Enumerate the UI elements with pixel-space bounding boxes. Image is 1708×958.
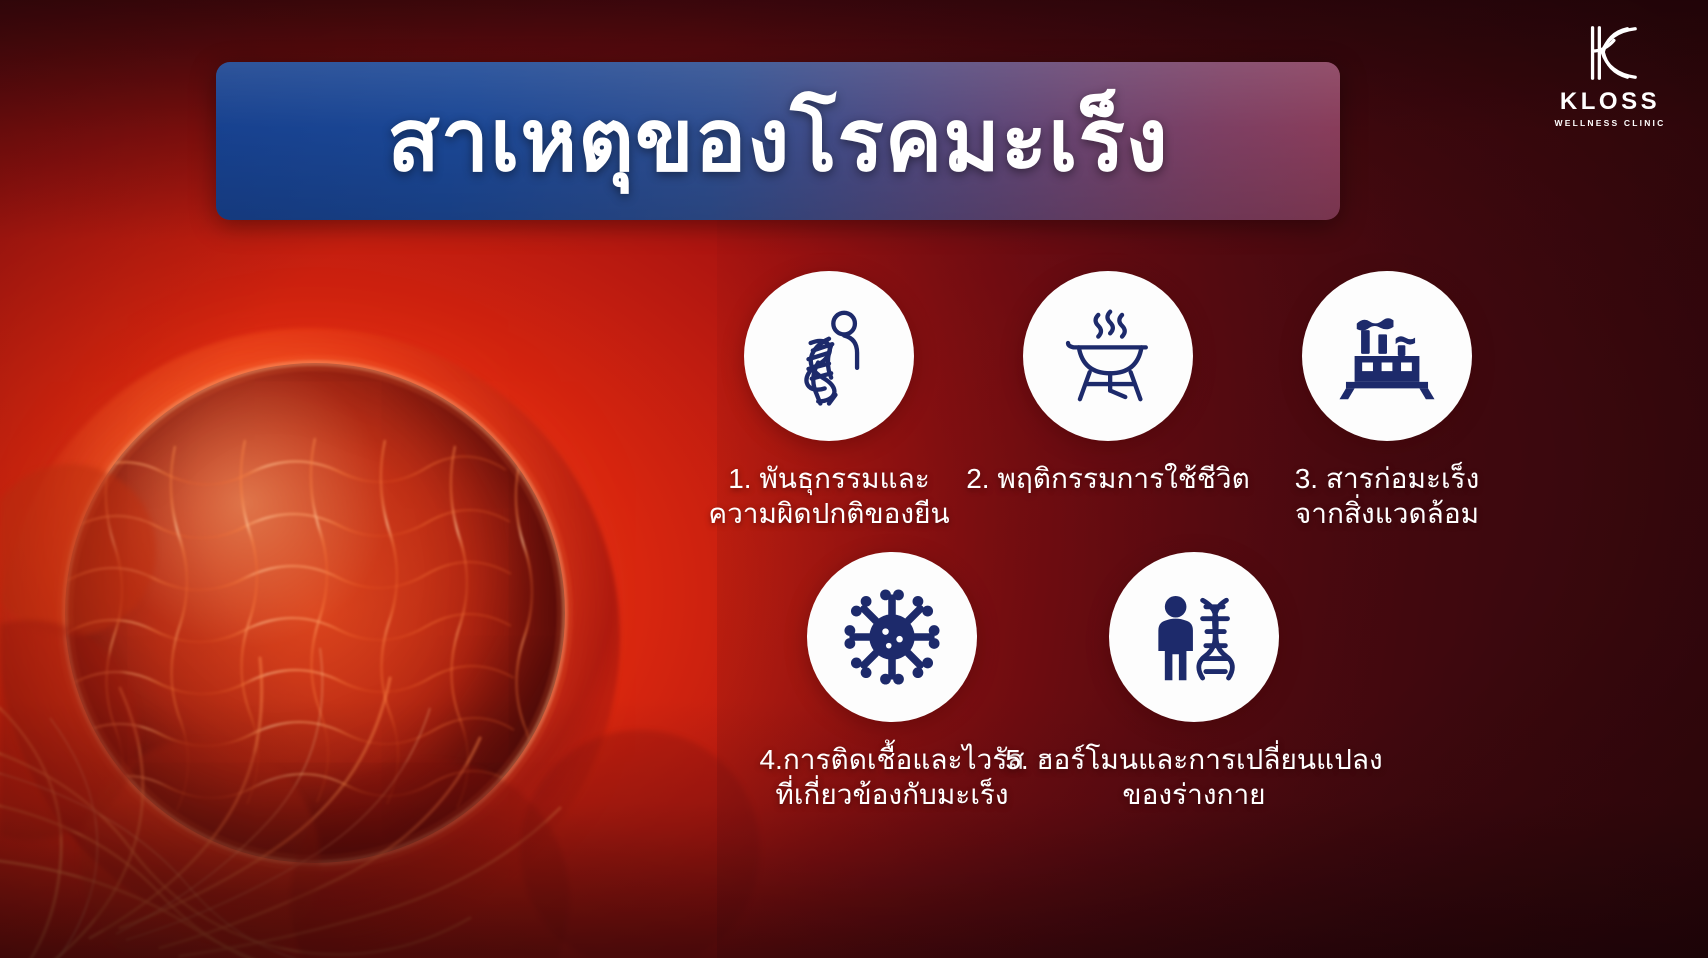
caption-2: 2. พฤติกรรมการใช้ชีวิต xyxy=(966,461,1250,496)
icon-disc-3 xyxy=(1302,271,1472,441)
caption-3: 3. สารก่อมะเร็ง จากสิ่งแวดล้อม xyxy=(1295,461,1480,532)
dna-person-icon xyxy=(775,302,883,410)
page-title: สาเหตุของโรคมะเร็ง xyxy=(387,98,1169,184)
logo-tagline: WELLNESS CLINIC xyxy=(1555,119,1666,128)
brand-logo: KLOSS WELLNESS CLINIC xyxy=(1546,22,1674,128)
caption-1-line-1: 1. พันธุกรรมและ xyxy=(708,461,949,496)
caption-4-line-1: 4.การติดเชื้อและไวรัส xyxy=(759,742,1024,777)
icon-disc-5 xyxy=(1109,552,1279,722)
icon-disc-2 xyxy=(1023,271,1193,441)
caption-1: 1. พันธุกรรมและ ความผิดปกติของยีน xyxy=(708,461,949,532)
infographic-poster: สาเหตุของโรคมะเร็ง KLOSS WELLNESS CLINIC xyxy=(0,0,1708,958)
logo-wordmark: KLOSS xyxy=(1560,90,1660,114)
factory-pollution-icon xyxy=(1333,302,1441,410)
caption-4-line-2: ที่เกี่ยวข้องกับมะเร็ง xyxy=(759,777,1024,812)
kloss-k-monogram-icon xyxy=(1579,22,1641,84)
cause-item-3: 3. สารก่อมะเร็ง จากสิ่งแวดล้อม xyxy=(1217,271,1557,532)
caption-5: 5. ฮอร์โมนและการเปลี่ยนแปลง ของร่างกาย xyxy=(1005,742,1382,813)
caption-4: 4.การติดเชื้อและไวรัส ที่เกี่ยวข้องกับมะ… xyxy=(759,742,1024,813)
caption-3-line-2: จากสิ่งแวดล้อม xyxy=(1295,496,1480,531)
caption-5-line-2: ของร่างกาย xyxy=(1005,777,1382,812)
cause-item-5: 5. ฮอร์โมนและการเปลี่ยนแปลง ของร่างกาย xyxy=(1024,552,1364,813)
caption-3-line-1: 3. สารก่อมะเร็ง xyxy=(1295,461,1480,496)
caption-5-line-1: 5. ฮอร์โมนและการเปลี่ยนแปลง xyxy=(1005,742,1382,777)
title-banner: สาเหตุของโรคมะเร็ง xyxy=(216,62,1340,220)
caption-1-line-2: ความผิดปกติของยีน xyxy=(708,496,949,531)
virus-icon xyxy=(838,583,946,691)
bbq-grill-icon xyxy=(1054,302,1162,410)
icon-disc-1 xyxy=(744,271,914,441)
person-dna-hormone-icon xyxy=(1140,583,1248,691)
icon-disc-4 xyxy=(807,552,977,722)
caption-2-line-1: 2. พฤติกรรมการใช้ชีวิต xyxy=(966,461,1250,496)
